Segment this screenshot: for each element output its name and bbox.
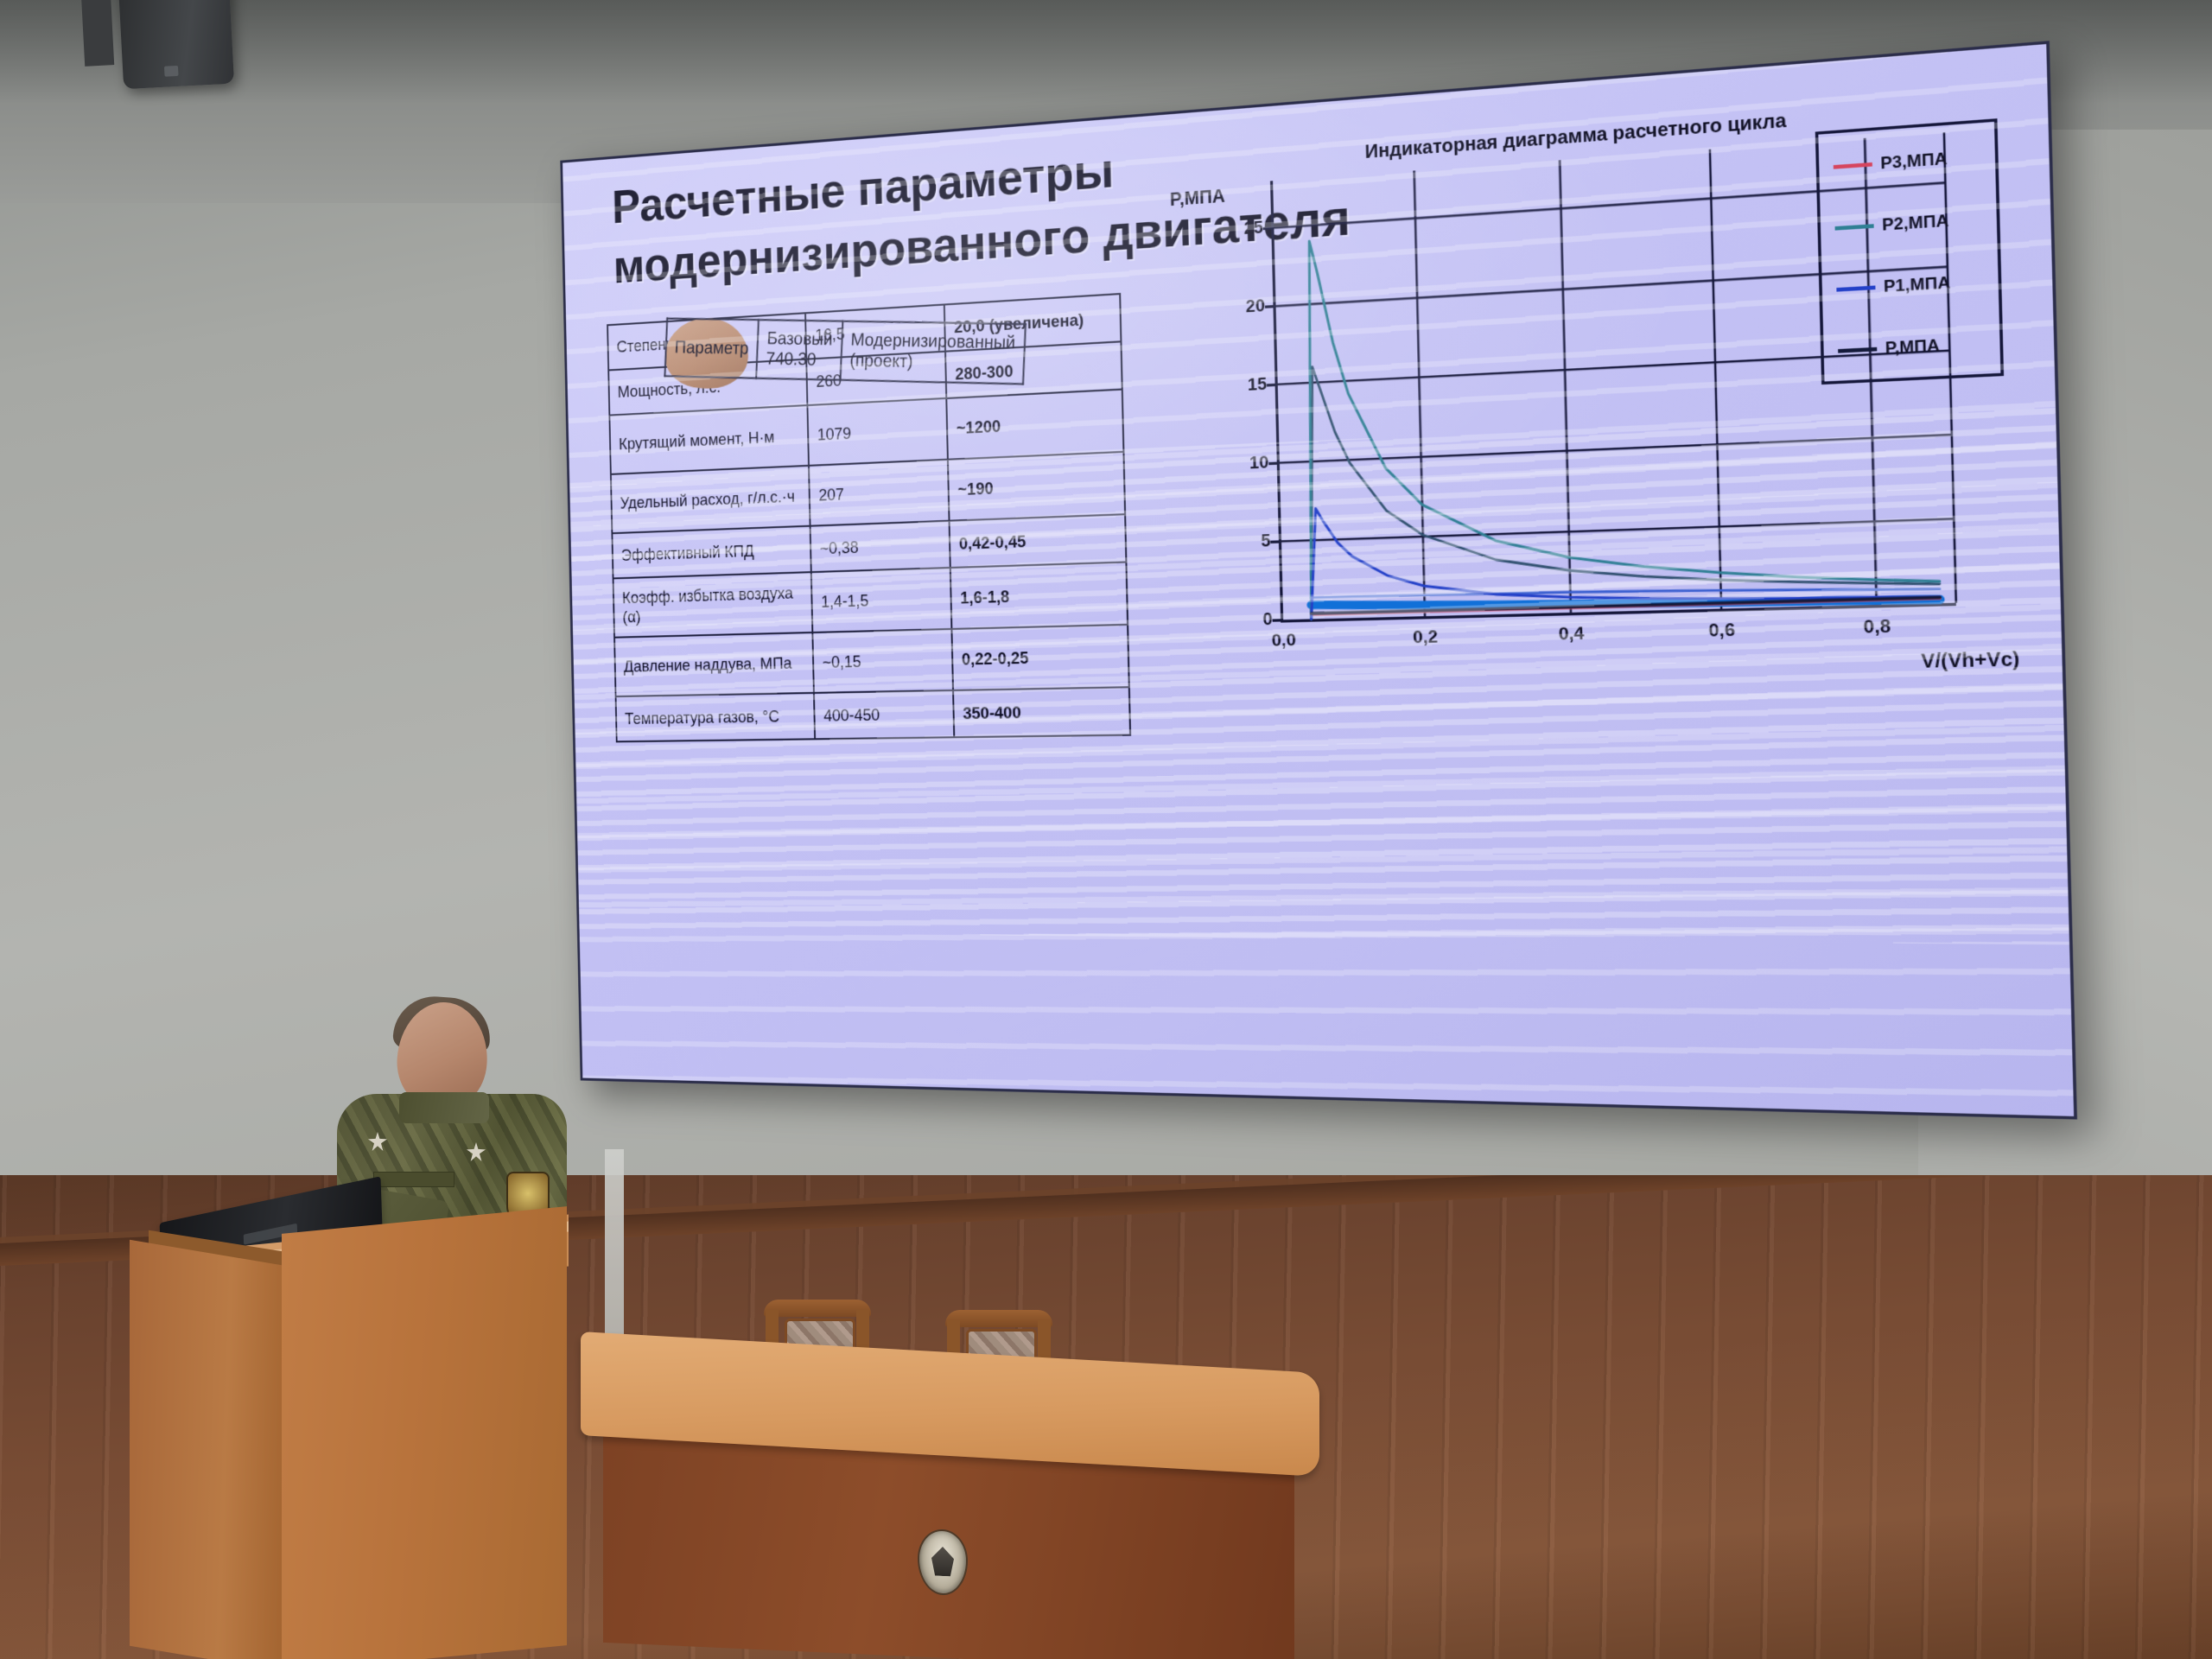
chart-y-tick-label: 15: [1248, 375, 1268, 397]
legend-item: P,МПА: [1838, 336, 1940, 361]
legend-item: P1,МПА: [1836, 273, 1950, 300]
chart-y-tick-label: 25: [1243, 219, 1263, 240]
name-tape: [373, 1172, 454, 1187]
lecture-hall-scene: Расчетные параметры модернизированного д…: [0, 0, 2212, 1659]
chart-y-tick-label: 0: [1262, 610, 1273, 631]
indicator-diagram-chart: Индикаторная диаграмма расчетного цикла …: [1169, 93, 2026, 693]
cell-base: 207: [809, 460, 949, 526]
legend-color-swatch-icon: [1835, 224, 1874, 230]
cell-base: 1079: [808, 398, 948, 466]
parameters-table: Параметр Базовый 740.30 Модернизированны…: [607, 293, 1131, 742]
legend-color-swatch-icon: [1836, 285, 1875, 291]
chart-y-tick-label: 10: [1249, 453, 1269, 474]
chart-legend: P3,МПАP2,МПАP1,МПАP,МПА: [1815, 118, 2004, 385]
cell-param: Эффективный КПД: [612, 526, 811, 579]
chart-x-tick-label: 0,2: [1413, 627, 1438, 649]
presentation-slide: Расчетные параметры модернизированного д…: [563, 44, 2074, 1116]
cell-base: 1,4-1,5: [811, 568, 951, 632]
table-row: Давление наддува, МПа ~0,15 0,22-0,25: [614, 625, 1129, 696]
chart-x-tick-label: 0,6: [1708, 620, 1735, 643]
legend-color-swatch-icon: [1834, 162, 1872, 169]
podium-front-panel: [282, 1206, 567, 1659]
wooden-podium: [130, 1208, 570, 1659]
cell-mod: 0,22-0,25: [951, 625, 1128, 690]
chart-y-tick-mark: [1265, 305, 1276, 308]
legend-label: P2,МПА: [1882, 211, 1949, 235]
chart-y-tick-mark: [1263, 227, 1274, 231]
chair-top-rail: [945, 1310, 1052, 1327]
speaker-mount-bracket: [81, 0, 114, 67]
chart-x-axis-label: V/(Vh+Vc): [1921, 649, 2020, 674]
chart-y-tick-mark: [1273, 619, 1284, 622]
chart-x-tick-label: 0,8: [1863, 616, 1891, 639]
chart-y-axis-label: P,МПА: [1170, 186, 1225, 211]
cell-param: Коэфф. избытка воздуха (α): [613, 572, 813, 638]
podium-left-panel: [130, 1240, 287, 1659]
cell-mod: ~190: [948, 452, 1125, 521]
cell-mod: 1,6-1,8: [950, 563, 1128, 629]
cell-base: 400-450: [814, 690, 954, 739]
chart-y-tick-label: 5: [1261, 531, 1271, 552]
chart-y-tick-mark: [1270, 540, 1281, 543]
projection-screen-wrap: Расчетные параметры модернизированного д…: [570, 160, 1987, 1080]
cell-param: Удельный расход, г/л.с.·ч: [611, 466, 810, 533]
conference-table: [581, 1352, 1319, 1659]
chart-y-tick-label: 20: [1246, 296, 1266, 318]
cell-param: Температура газов, °C: [616, 693, 816, 741]
legend-color-swatch-icon: [1838, 347, 1877, 353]
presenter-collar: [399, 1092, 489, 1123]
legend-label: P,МПА: [1885, 336, 1940, 359]
projection-screen: Расчетные параметры модернизированного д…: [560, 41, 2077, 1119]
chart-x-tick-label: 0,4: [1559, 624, 1585, 645]
speaker-logo-icon: [164, 66, 179, 77]
chart-x-tick-label: 0,0: [1272, 631, 1296, 652]
legend-label: P1,МПА: [1884, 273, 1951, 296]
legend-item: P3,МПА: [1834, 149, 1948, 177]
col-header-param: Параметр: [664, 319, 759, 378]
col-header-modernized: Модернизированный (проект): [840, 321, 1026, 385]
chair-top-rail: [764, 1300, 871, 1317]
cell-param: Крутящий момент, Н·м: [609, 405, 809, 474]
chart-y-tick-mark: [1268, 462, 1280, 466]
ceiling-speaker: [118, 0, 234, 89]
legend-label: P3,МПА: [1880, 149, 1948, 174]
cell-mod: 350-400: [953, 687, 1130, 737]
table-header-row: Параметр Базовый 740.30 Модернизированны…: [664, 318, 750, 390]
cell-mod: ~1200: [946, 390, 1123, 460]
cell-param: Давление наддува, МПа: [614, 632, 814, 696]
table-row: Температура газов, °C 400-450 350-400: [616, 687, 1131, 741]
legend-item: P2,МПА: [1834, 211, 1948, 238]
cell-mod: 0,42-0,45: [950, 514, 1127, 568]
chart-y-tick-mark: [1267, 384, 1278, 387]
cell-base: ~0,38: [810, 521, 950, 572]
cell-base: ~0,15: [813, 629, 954, 693]
col-header-base: Базовый 740.30: [756, 320, 842, 380]
